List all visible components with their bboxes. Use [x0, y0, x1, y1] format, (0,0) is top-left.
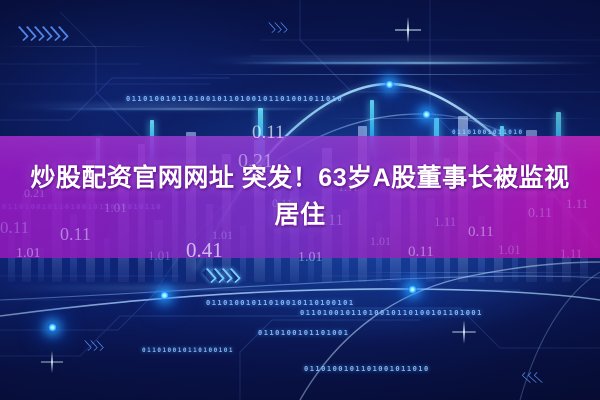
chevron-right-icon: [268, 22, 285, 33]
chevron-right-icon: [525, 372, 542, 383]
upper-curve-node: [422, 110, 431, 119]
binary-strip: 011010010110100101: [142, 348, 234, 354]
chevron-right-icon: [206, 268, 237, 283]
binary-strip: 0110100101101001: [258, 330, 349, 337]
floating-number: 1.01: [298, 250, 323, 266]
promo-banner: 0110100101101001011010010110100101101001…: [0, 0, 600, 400]
chevron-right-icon: [84, 340, 101, 351]
floating-number: 1.01: [370, 234, 391, 249]
headline-line-1: 炒股配资官网网址 突发！63岁A股董事长被监视: [30, 164, 569, 192]
floating-number: 1.01: [148, 248, 171, 264]
floating-number: 1.01: [498, 242, 521, 258]
floating-number: 0.11: [408, 244, 434, 261]
headline-line-2: 居住: [0, 197, 600, 234]
binary-strip: 01101001011010010110100101101001: [300, 310, 483, 317]
binary-strip: 0110100101101001011010: [304, 366, 430, 373]
page-title: 炒股配资官网网址 突发！63岁A股董事长被监视 居住: [0, 160, 600, 234]
chevron-right-icon: [18, 26, 65, 41]
floating-number: 1.01: [16, 246, 41, 262]
lower-curve-node-left: [160, 291, 169, 300]
floating-number: 1.11: [560, 246, 582, 262]
curve-peak-node: [385, 80, 394, 89]
binary-strip: 01101001011010010110100101: [206, 300, 355, 307]
lower-curve-node-right: [408, 285, 417, 294]
floating-number: 0.11: [252, 122, 285, 144]
trace-node-left: [48, 323, 57, 332]
binary-strip: 01101001011010010110100101101001011010: [126, 96, 343, 103]
